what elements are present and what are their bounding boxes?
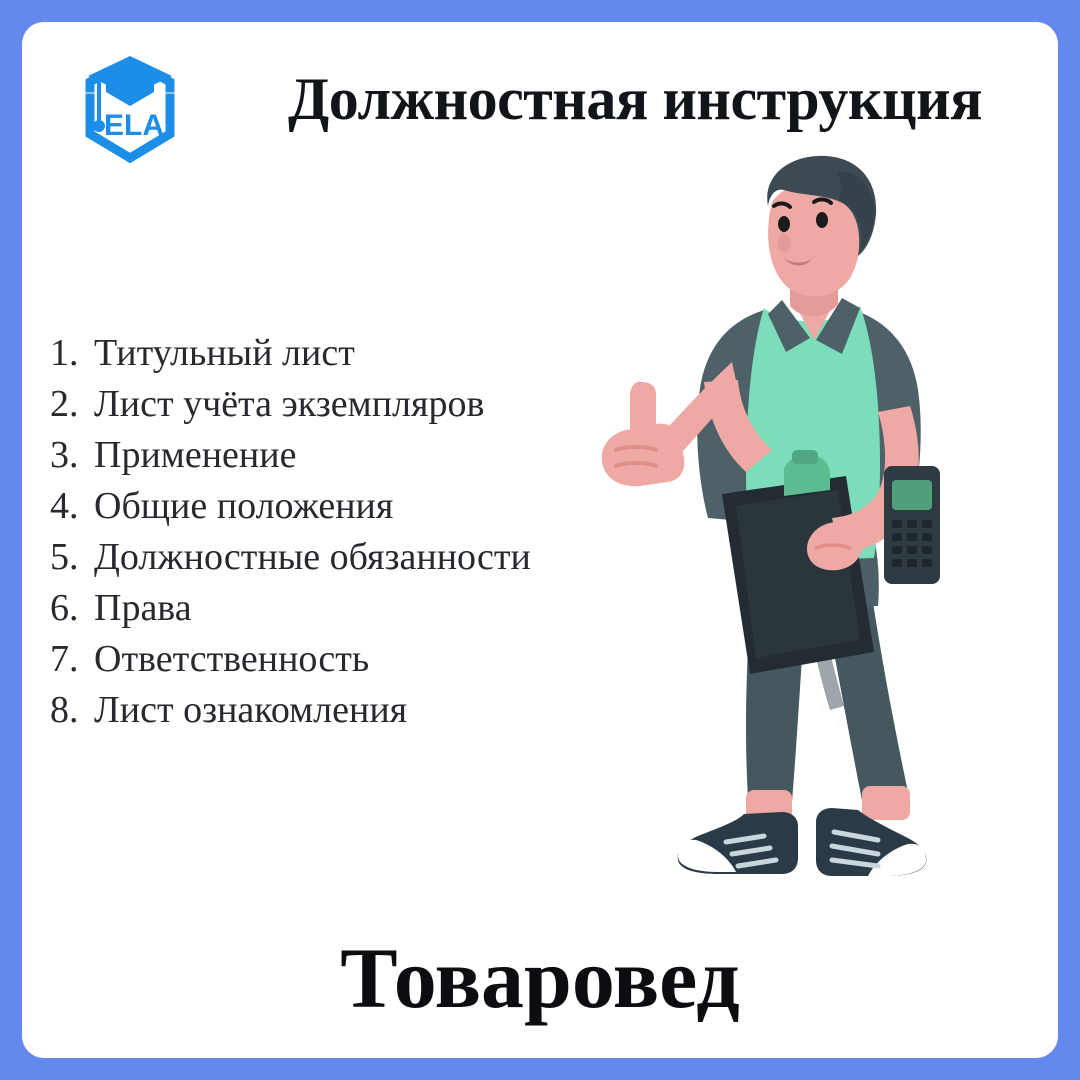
list-item-label: Лист учёта экземпляров	[94, 379, 484, 430]
list-item-number: 4.	[50, 481, 94, 532]
page-title: Должностная инструкция	[230, 68, 1040, 131]
table-of-contents: 1. Титульный лист 2. Лист учёта экземпля…	[50, 328, 670, 736]
list-item-label: Общие положения	[94, 481, 393, 532]
job-title: Товаровед	[0, 935, 1080, 1021]
svg-text:ELA: ELA	[104, 109, 164, 142]
list-item-number: 7.	[50, 634, 94, 685]
list-item: 4. Общие положения	[50, 481, 670, 532]
list-item-label: Ответственность	[94, 634, 369, 685]
list-item-label: Должностные обязанности	[94, 532, 531, 583]
list-item: 5. Должностные обязанности	[50, 532, 670, 583]
list-item: 7. Ответственность	[50, 634, 670, 685]
list-item-number: 6.	[50, 583, 94, 634]
list-item-number: 2.	[50, 379, 94, 430]
barcode-scanner-icon	[884, 466, 940, 584]
list-item: 3. Применение	[50, 430, 670, 481]
list-item-number: 5.	[50, 532, 94, 583]
head	[767, 156, 876, 297]
list-item: 1. Титульный лист	[50, 328, 670, 379]
list-item: 8. Лист ознакомления	[50, 685, 670, 736]
merchandiser-illustration	[586, 150, 1006, 910]
list-item-number: 1.	[50, 328, 94, 379]
poster-root: ELA Должностная инструкция 1. Титульный …	[0, 0, 1080, 1080]
list-item: 6. Права	[50, 583, 670, 634]
list-item-label: Применение	[94, 430, 296, 481]
list-item-label: Лист ознакомления	[94, 685, 407, 736]
list-item-label: Права	[94, 583, 192, 634]
ela-logo-icon: ELA	[68, 48, 192, 172]
list-item-number: 3.	[50, 430, 94, 481]
list-item-label: Титульный лист	[94, 328, 355, 379]
list-item: 2. Лист учёта экземпляров	[50, 379, 670, 430]
list-item-number: 8.	[50, 685, 94, 736]
